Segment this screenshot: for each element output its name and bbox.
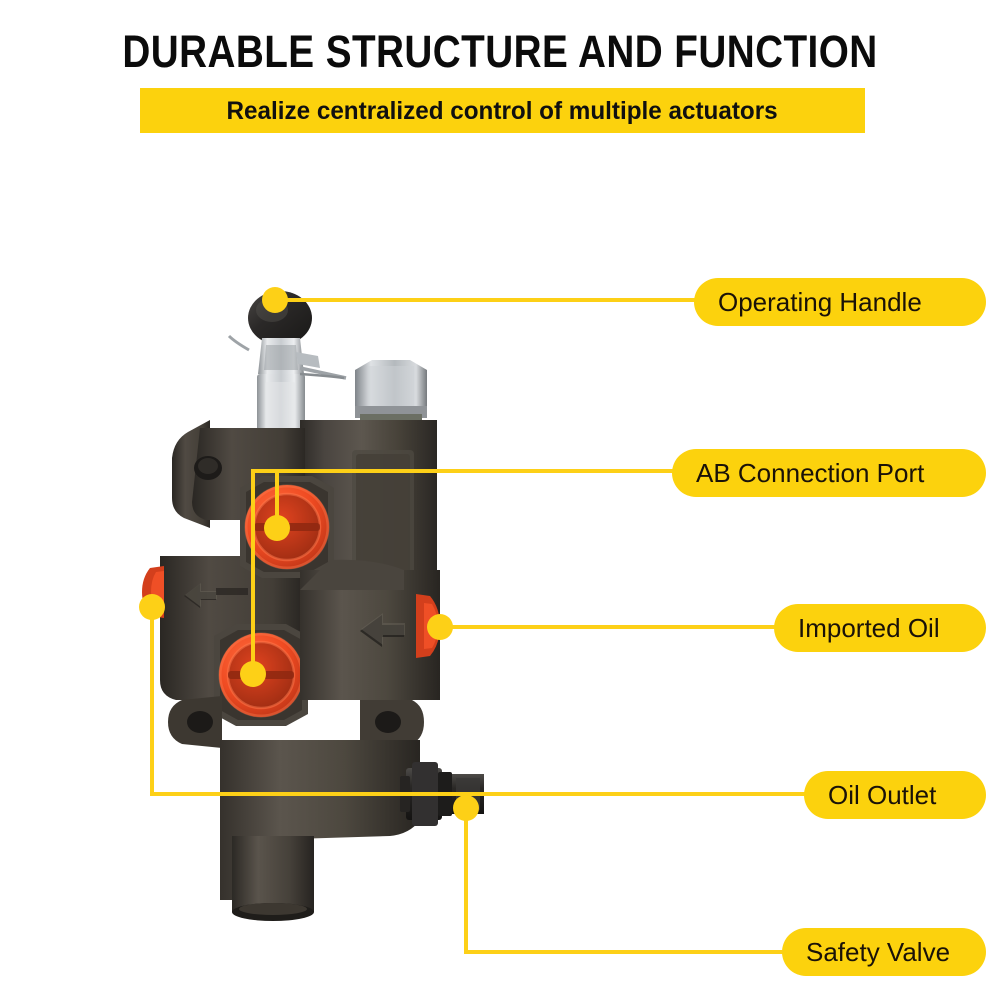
callout-operating-handle[interactable]: Operating Handle — [694, 278, 986, 326]
anchor-dot-safety-valve — [453, 795, 479, 821]
callout-imported-oil[interactable]: Imported Oil — [774, 604, 986, 652]
anchor-dot-ab-port-upper — [264, 515, 290, 541]
callout-safety-valve[interactable]: Safety Valve — [782, 928, 986, 976]
anchor-dot-ab-port-lower — [240, 661, 266, 687]
callout-ab-connection-port[interactable]: AB Connection Port — [672, 449, 986, 497]
infographic-page: DURABLE STRUCTURE AND FUNCTION Realize c… — [0, 0, 1000, 1000]
callout-label-oil-outlet: Oil Outlet — [828, 780, 936, 810]
callout-label-ab-connection-port: AB Connection Port — [696, 458, 924, 488]
callout-oil-outlet[interactable]: Oil Outlet — [804, 771, 986, 819]
callout-leader-lines — [0, 0, 1000, 1000]
callout-label-operating-handle: Operating Handle — [718, 287, 922, 317]
callout-label-imported-oil: Imported Oil — [798, 613, 940, 643]
anchor-dot-operating-handle — [262, 287, 288, 313]
callout-anchor-dots — [139, 287, 479, 821]
callout-label-safety-valve: Safety Valve — [806, 937, 950, 967]
anchor-dot-imported-oil — [427, 614, 453, 640]
anchor-dot-oil-outlet — [139, 594, 165, 620]
